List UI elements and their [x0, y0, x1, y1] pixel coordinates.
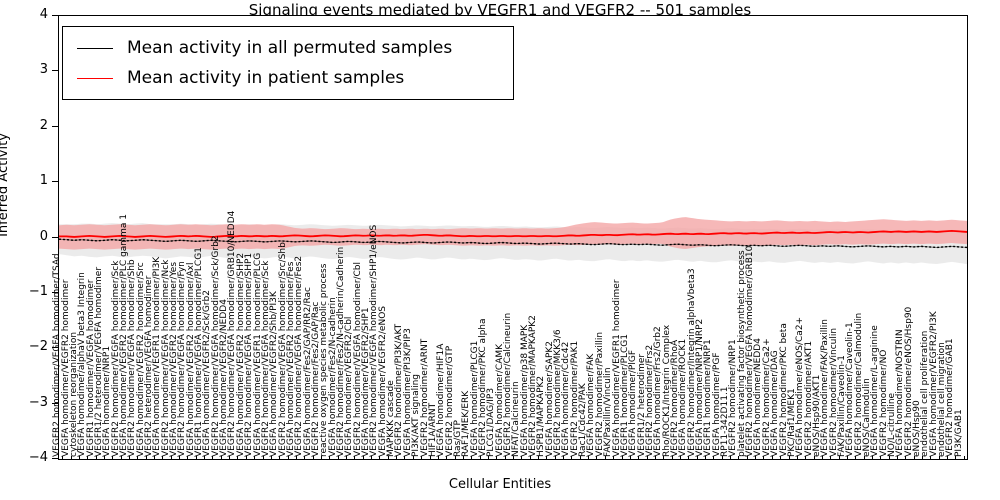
y-tick-label: −3 [18, 395, 48, 410]
x-axis-label-text: Cellular Entities [449, 477, 551, 492]
x-axis-label: Cellular Entities [0, 477, 1000, 492]
y-tick-label: 2 [18, 118, 48, 133]
figure: Signaling events mediated by VEGFR1 and … [0, 0, 1000, 500]
y-tick-label: 4 [18, 7, 48, 22]
legend-swatch-patient [77, 78, 113, 79]
y-tick-label: 1 [18, 173, 48, 188]
y-tick-label: −4 [18, 450, 48, 465]
y-axis-label-text: Inferred Activity [0, 85, 11, 285]
legend-entry-patient: Mean activity in patient samples [73, 63, 503, 93]
legend-entry-permuted: Mean activity in all permuted samples [73, 33, 503, 63]
y-axis-label: Inferred Activity [0, 0, 11, 185]
y-tick-label: 0 [18, 229, 48, 244]
legend-label-permuted: Mean activity in all permuted samples [127, 38, 452, 58]
y-tick-label: −2 [18, 339, 48, 354]
y-tick-label: −1 [18, 284, 48, 299]
legend-swatch-permuted [77, 48, 113, 49]
legend-label-patient: Mean activity in patient samples [127, 68, 404, 88]
y-tick-label: 3 [18, 62, 48, 77]
legend: Mean activity in all permuted samples Me… [62, 26, 514, 100]
